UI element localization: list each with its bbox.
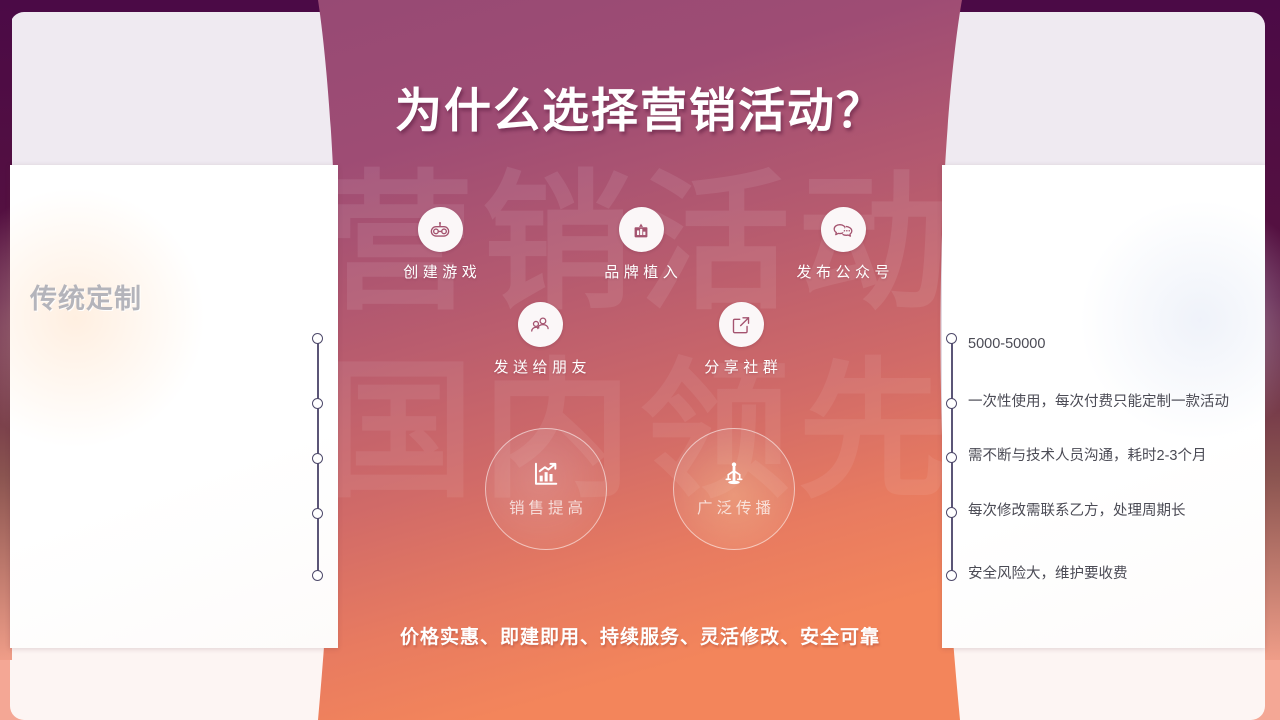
right-timeline-item: 需不断与技术人员沟通，耗时2-3个月	[968, 446, 1233, 467]
panel-glow-left	[0, 183, 210, 453]
feature-label: 品牌植入	[561, 261, 721, 282]
right-timeline-item: 5000-50000	[968, 334, 1233, 355]
right-timeline-item: 一次性使用，每次付费只能定制一款活动	[968, 392, 1233, 413]
feature-share-community[interactable]: 分享社群	[661, 302, 821, 377]
feature-label: 发送给朋友	[460, 356, 620, 377]
feature-label: 发布公众号	[763, 261, 923, 282]
chat-bubbles-icon	[821, 207, 866, 252]
highlight-label: 广泛传播	[693, 496, 775, 518]
highlight-sales-increase[interactable]: 销售提高	[485, 428, 607, 550]
left-timeline-dot	[312, 570, 323, 581]
right-timeline-dot	[946, 333, 957, 344]
bottom-tagline: 价格实惠、即建即用、持续服务、灵活修改、安全可靠	[0, 622, 1280, 649]
marketing-activity-panel	[10, 165, 338, 648]
growth-chart-icon	[532, 460, 560, 488]
share-external-icon	[719, 302, 764, 347]
feature-label: 分享社群	[661, 356, 821, 377]
right-timeline-item: 安全风险大，维护要收费	[968, 564, 1233, 585]
right-timeline-dot	[946, 452, 957, 463]
right-panel-heading: 传统定制	[30, 277, 142, 316]
broadcast-icon	[720, 460, 748, 488]
feature-brand-implant[interactable]: 品牌植入	[561, 207, 721, 282]
friends-icon	[518, 302, 563, 347]
highlight-wide-spread[interactable]: 广泛传播	[673, 428, 795, 550]
feature-send-to-friends[interactable]: 发送给朋友	[460, 302, 620, 377]
feature-create-game[interactable]: 创建游戏	[360, 207, 520, 282]
bar-chart-icon	[619, 207, 664, 252]
left-timeline-dot	[312, 508, 323, 519]
right-timeline-dot	[946, 398, 957, 409]
feature-publish-official-account[interactable]: 发布公众号	[763, 207, 923, 282]
page-title: 为什么选择营销活动？	[0, 72, 1280, 141]
gamepad-icon	[418, 207, 463, 252]
left-timeline-dot	[312, 398, 323, 409]
highlight-label: 销售提高	[505, 496, 587, 518]
left-timeline-dot	[312, 333, 323, 344]
left-timeline-dot	[312, 453, 323, 464]
right-timeline-dot	[946, 570, 957, 581]
right-timeline-item: 每次修改需联系乙方，处理周期长	[968, 501, 1233, 522]
right-timeline-dot	[946, 507, 957, 518]
slide-canvas: 营销活动 国内领先 为什么选择营销活动？ 营销活动 价格实惠 任意创建活动，持续…	[0, 0, 1280, 720]
feature-label: 创建游戏	[360, 261, 520, 282]
